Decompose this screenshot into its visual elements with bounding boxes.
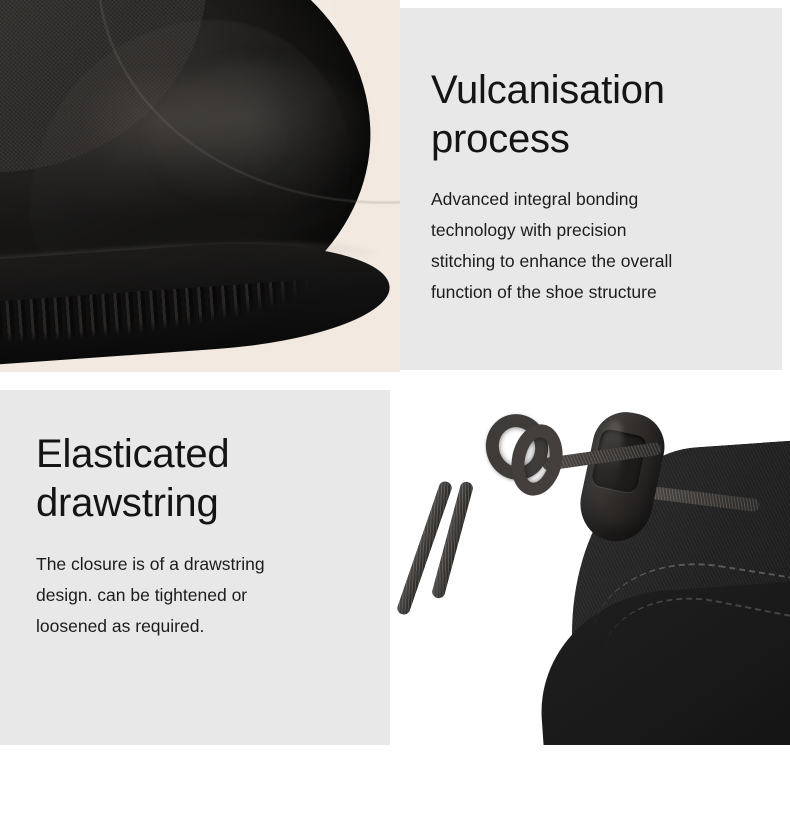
drawstring-image [390, 388, 790, 745]
vulcanisation-text-panel: Vulcanisation process Advanced integral … [400, 8, 782, 370]
feature-title-drawstring: Elasticated drawstring [36, 430, 366, 528]
drawstring-photo: Close-up of elastic drawstring cord with… [390, 388, 790, 745]
feature-body-vulcanisation: Advanced integral bonding technology wit… [431, 184, 769, 308]
shoe-toe-image [0, 0, 400, 372]
drawstring-text-panel: Elasticated drawstring The closure is of… [0, 390, 390, 745]
toe-highlight [150, 60, 370, 210]
feature-body-drawstring: The closure is of a drawstring design. c… [36, 549, 366, 642]
infographic-page: Close-up of black shoe toe cap with vulc… [0, 0, 790, 815]
vulcanisation-photo: Close-up of black shoe toe cap with vulc… [0, 0, 400, 372]
feature-title-vulcanisation: Vulcanisation process [431, 66, 769, 164]
